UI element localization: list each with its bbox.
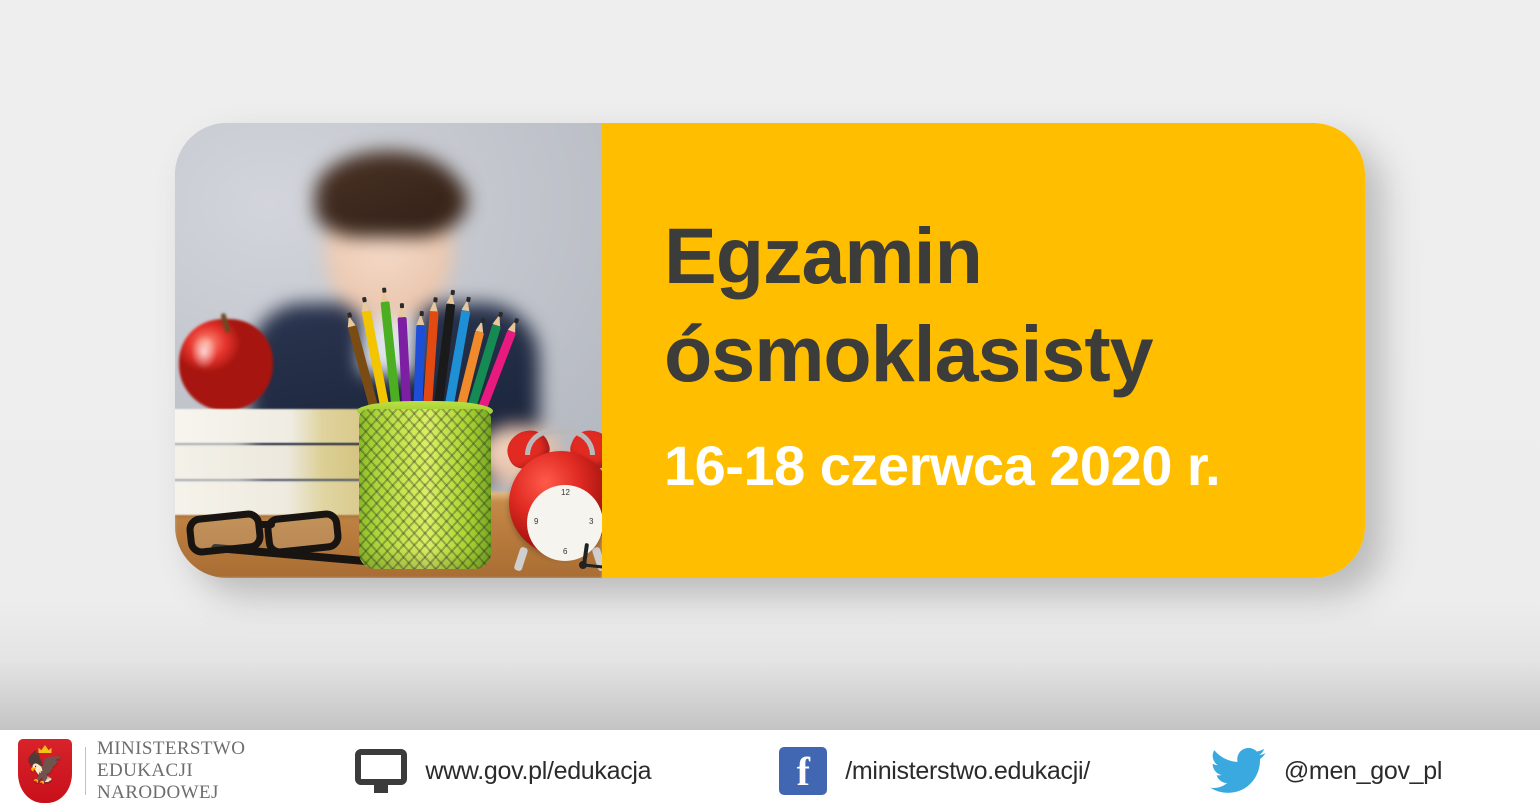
ministry-line-2: EDUKACJI: [97, 760, 245, 782]
student-hair: [315, 151, 461, 237]
twitter-link-label: @men_gov_pl: [1284, 757, 1442, 786]
banner-subtitle-date: 16-18 czerwca 2020 r.: [664, 433, 1365, 498]
ministry-line-1: MINISTERSTWO: [97, 738, 245, 760]
website-link-label: www.gov.pl/edukacja: [425, 757, 651, 786]
eyeglasses-icon: [181, 509, 379, 571]
banner-title-line-2: ósmoklasisty: [664, 305, 1365, 403]
facebook-link[interactable]: f /ministerstwo.edukacji/: [779, 747, 1090, 795]
monitor-icon: [355, 749, 407, 793]
ministry-branding: 🦅 MINISTERSTWO EDUKACJI NARODOWEJ: [18, 738, 245, 805]
pencil-cup: [357, 301, 493, 571]
twitter-icon: [1210, 748, 1266, 794]
twitter-link[interactable]: @men_gov_pl: [1210, 748, 1442, 794]
brand-divider: [85, 747, 86, 795]
polish-coat-of-arms-icon: 🦅: [18, 739, 72, 803]
exam-banner-card: 12 3 6 9 Egzamin ósmoklasisty 16-18 czer…: [175, 123, 1365, 578]
banner-title: Egzamin ósmoklasisty: [664, 207, 1365, 403]
classroom-photo: 12 3 6 9: [175, 123, 602, 578]
alarm-clock-icon: 12 3 6 9: [505, 431, 602, 561]
footer-bar: 🦅 MINISTERSTWO EDUKACJI NARODOWEJ www.go…: [0, 730, 1540, 812]
facebook-link-label: /ministerstwo.edukacji/: [845, 757, 1090, 786]
banner-text-panel: Egzamin ósmoklasisty 16-18 czerwca 2020 …: [602, 123, 1365, 578]
ministry-line-3: NARODOWEJ: [97, 782, 245, 804]
website-link[interactable]: www.gov.pl/edukacja: [355, 749, 651, 793]
ministry-name: MINISTERSTWO EDUKACJI NARODOWEJ: [97, 738, 245, 805]
poster-background: 12 3 6 9 Egzamin ósmoklasisty 16-18 czer…: [0, 0, 1540, 812]
banner-title-line-1: Egzamin: [664, 207, 1365, 305]
facebook-icon: f: [779, 747, 827, 795]
book-stack: [175, 409, 367, 519]
apple-icon: [179, 319, 273, 411]
